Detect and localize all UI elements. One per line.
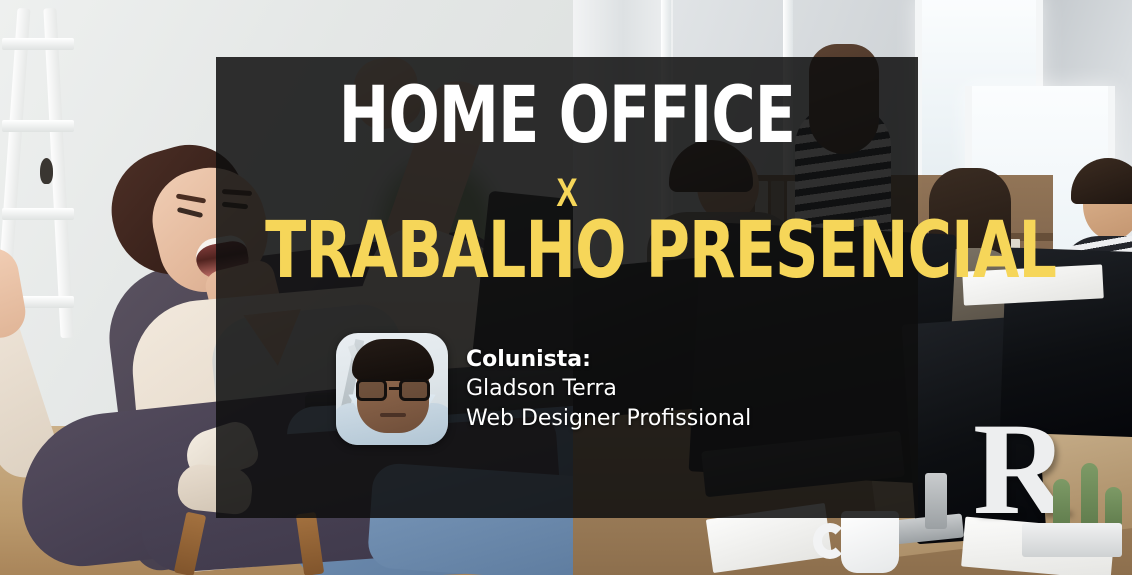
banner-title-sub: TRABALHO PRESENCIAL bbox=[265, 217, 869, 286]
author-info: Colunista: Gladson Terra Web Designer Pr… bbox=[466, 345, 751, 432]
plant-pot bbox=[1022, 523, 1122, 557]
author-name: Gladson Terra bbox=[466, 374, 751, 403]
coffee-mug bbox=[841, 511, 899, 573]
banner-content: HOME OFFICE X TRABALHO PRESENCIAL bbox=[216, 57, 918, 518]
monitor-stand bbox=[925, 473, 947, 529]
avatar bbox=[336, 333, 448, 445]
author-role: Web Designer Profissional bbox=[466, 404, 751, 433]
glasses-icon bbox=[354, 379, 432, 401]
author-label: Colunista: bbox=[466, 345, 751, 374]
article-hero-banner: R HOME OFFICE X TRABALHO PRESENCIAL bbox=[0, 0, 1132, 575]
banner-title-main: HOME OFFICE bbox=[265, 83, 869, 150]
cactus-plant bbox=[1081, 463, 1098, 531]
author-byline: Colunista: Gladson Terra Web Designer Pr… bbox=[336, 333, 751, 445]
